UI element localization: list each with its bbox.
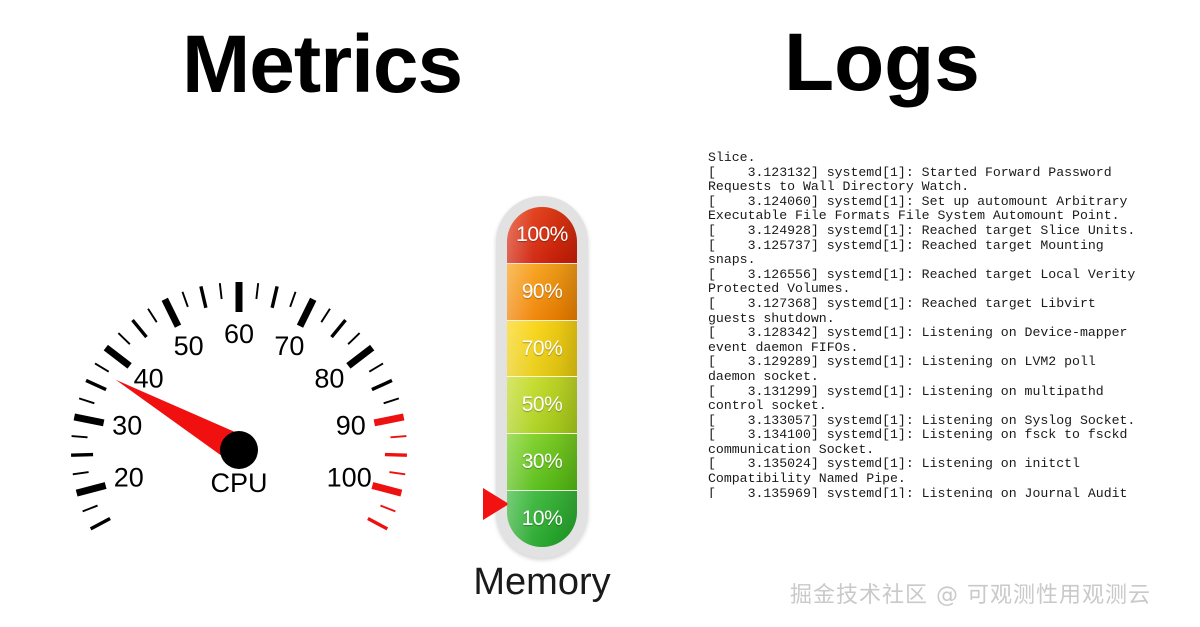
log-line: [ 3.124928] systemd[1]: Reached target S… [708, 224, 1148, 239]
memory-segment-label: 90% [522, 280, 563, 304]
gauge-tick-label: 50 [174, 331, 204, 361]
gauge-tick [368, 519, 387, 529]
log-line: [ 3.125737] systemd[1]: Reached target M… [708, 239, 1148, 268]
memory-segment-label: 30% [522, 450, 563, 474]
log-line: [ 3.133057] systemd[1]: Listening on Sys… [708, 414, 1148, 429]
gauge-tick [384, 398, 399, 403]
gauge-tick [201, 286, 206, 307]
log-output-panel[interactable]: Slice.[ 3.123132] systemd[1]: Started Fo… [708, 151, 1148, 498]
gauge-tick [332, 320, 346, 337]
log-line: [ 3.126556] systemd[1]: Reached target L… [708, 268, 1148, 297]
page-title-logs: Logs [784, 22, 980, 104]
gauge-tick [369, 363, 383, 371]
memory-caption: Memory [429, 561, 655, 604]
gauge-tick [272, 286, 277, 307]
gauge-tick-label: 90 [336, 411, 366, 441]
gauge-tick [256, 283, 258, 299]
memory-gauge: 100%90%70%50%30%10% Memory [487, 196, 597, 616]
log-line: [ 3.134100] systemd[1]: Listening on fsc… [708, 428, 1148, 457]
log-line: [ 3.135969] systemd[1]: Listening on Jou… [708, 487, 1148, 498]
gauge-tick-label: 60 [224, 319, 254, 349]
gauge-tick [74, 417, 103, 423]
memory-segment-label: 50% [522, 393, 563, 417]
gauge-tick [79, 398, 94, 403]
log-line: Slice. [708, 151, 1148, 166]
log-line: [ 3.123132] systemd[1]: Started Forward … [708, 166, 1148, 195]
gauge-tick [148, 309, 157, 322]
gauge-tick [300, 299, 313, 326]
gauge-tick-label: 70 [274, 331, 304, 361]
memory-segment: 50% [507, 377, 577, 434]
gauge-tick [380, 506, 395, 512]
memory-segment: 100% [507, 207, 577, 264]
gauge-tick-label: 100 [327, 462, 372, 492]
memory-segment-label: 100% [516, 223, 568, 247]
gauge-tick [321, 309, 330, 322]
cpu-gauge-svg: 2030405060708090100 CPU [28, 250, 468, 570]
gauge-tick [95, 363, 109, 371]
gauge-tick-label: 40 [134, 364, 164, 394]
log-line: [ 3.127368] systemd[1]: Reached target L… [708, 297, 1148, 326]
gauge-tick [390, 436, 406, 437]
gauge-tick [372, 380, 392, 389]
memory-segment: 10% [507, 491, 577, 547]
gauge-caption-cpu: CPU [210, 468, 267, 498]
gauge-tick [165, 299, 178, 326]
memory-segment-label: 70% [522, 337, 563, 361]
memory-pointer-triangle-icon [483, 488, 509, 520]
gauge-tick [372, 485, 401, 493]
gauge-tick [133, 320, 147, 337]
gauge-tick [220, 283, 222, 299]
gauge-tick [290, 292, 295, 307]
log-line: [ 3.128342] systemd[1]: Listening on Dev… [708, 326, 1148, 355]
gauge-tick [348, 333, 359, 344]
gauge-tick-label: 30 [112, 411, 142, 441]
memory-segment: 70% [507, 321, 577, 378]
gauge-tick [83, 506, 98, 512]
memory-segment: 30% [507, 434, 577, 491]
gauge-tick [118, 333, 129, 344]
gauge-tick-label: 80 [314, 364, 344, 394]
memory-segment-label: 10% [522, 507, 563, 531]
gauge-tick [77, 485, 106, 493]
gauge-tick [71, 455, 93, 456]
memory-gauge-track: 100%90%70%50%30%10% [507, 207, 577, 547]
page-title-metrics: Metrics [182, 24, 462, 106]
log-line: [ 3.129289] systemd[1]: Listening on LVM… [708, 355, 1148, 384]
gauge-tick [72, 436, 88, 437]
gauge-hub [220, 431, 258, 469]
gauge-tick [389, 472, 405, 474]
gauge-tick-label: 20 [114, 462, 144, 492]
gauge-tick [106, 348, 130, 366]
log-line: [ 3.124060] systemd[1]: Set up automount… [708, 195, 1148, 224]
gauge-tick [348, 348, 372, 366]
gauge-tick [182, 292, 187, 307]
cpu-gauge: 2030405060708090100 CPU [28, 250, 468, 570]
gauge-tick [73, 472, 89, 474]
gauge-tick [385, 455, 407, 456]
gauge-tick [91, 519, 110, 529]
gauge-tick [86, 380, 106, 389]
memory-segment: 90% [507, 264, 577, 321]
log-line: [ 3.135024] systemd[1]: Listening on ini… [708, 457, 1148, 486]
log-line: [ 3.131299] systemd[1]: Listening on mul… [708, 385, 1148, 414]
watermark-text: 掘金技术社区 @ 可观测性用观测云 [790, 577, 1151, 609]
gauge-tick [374, 417, 403, 423]
